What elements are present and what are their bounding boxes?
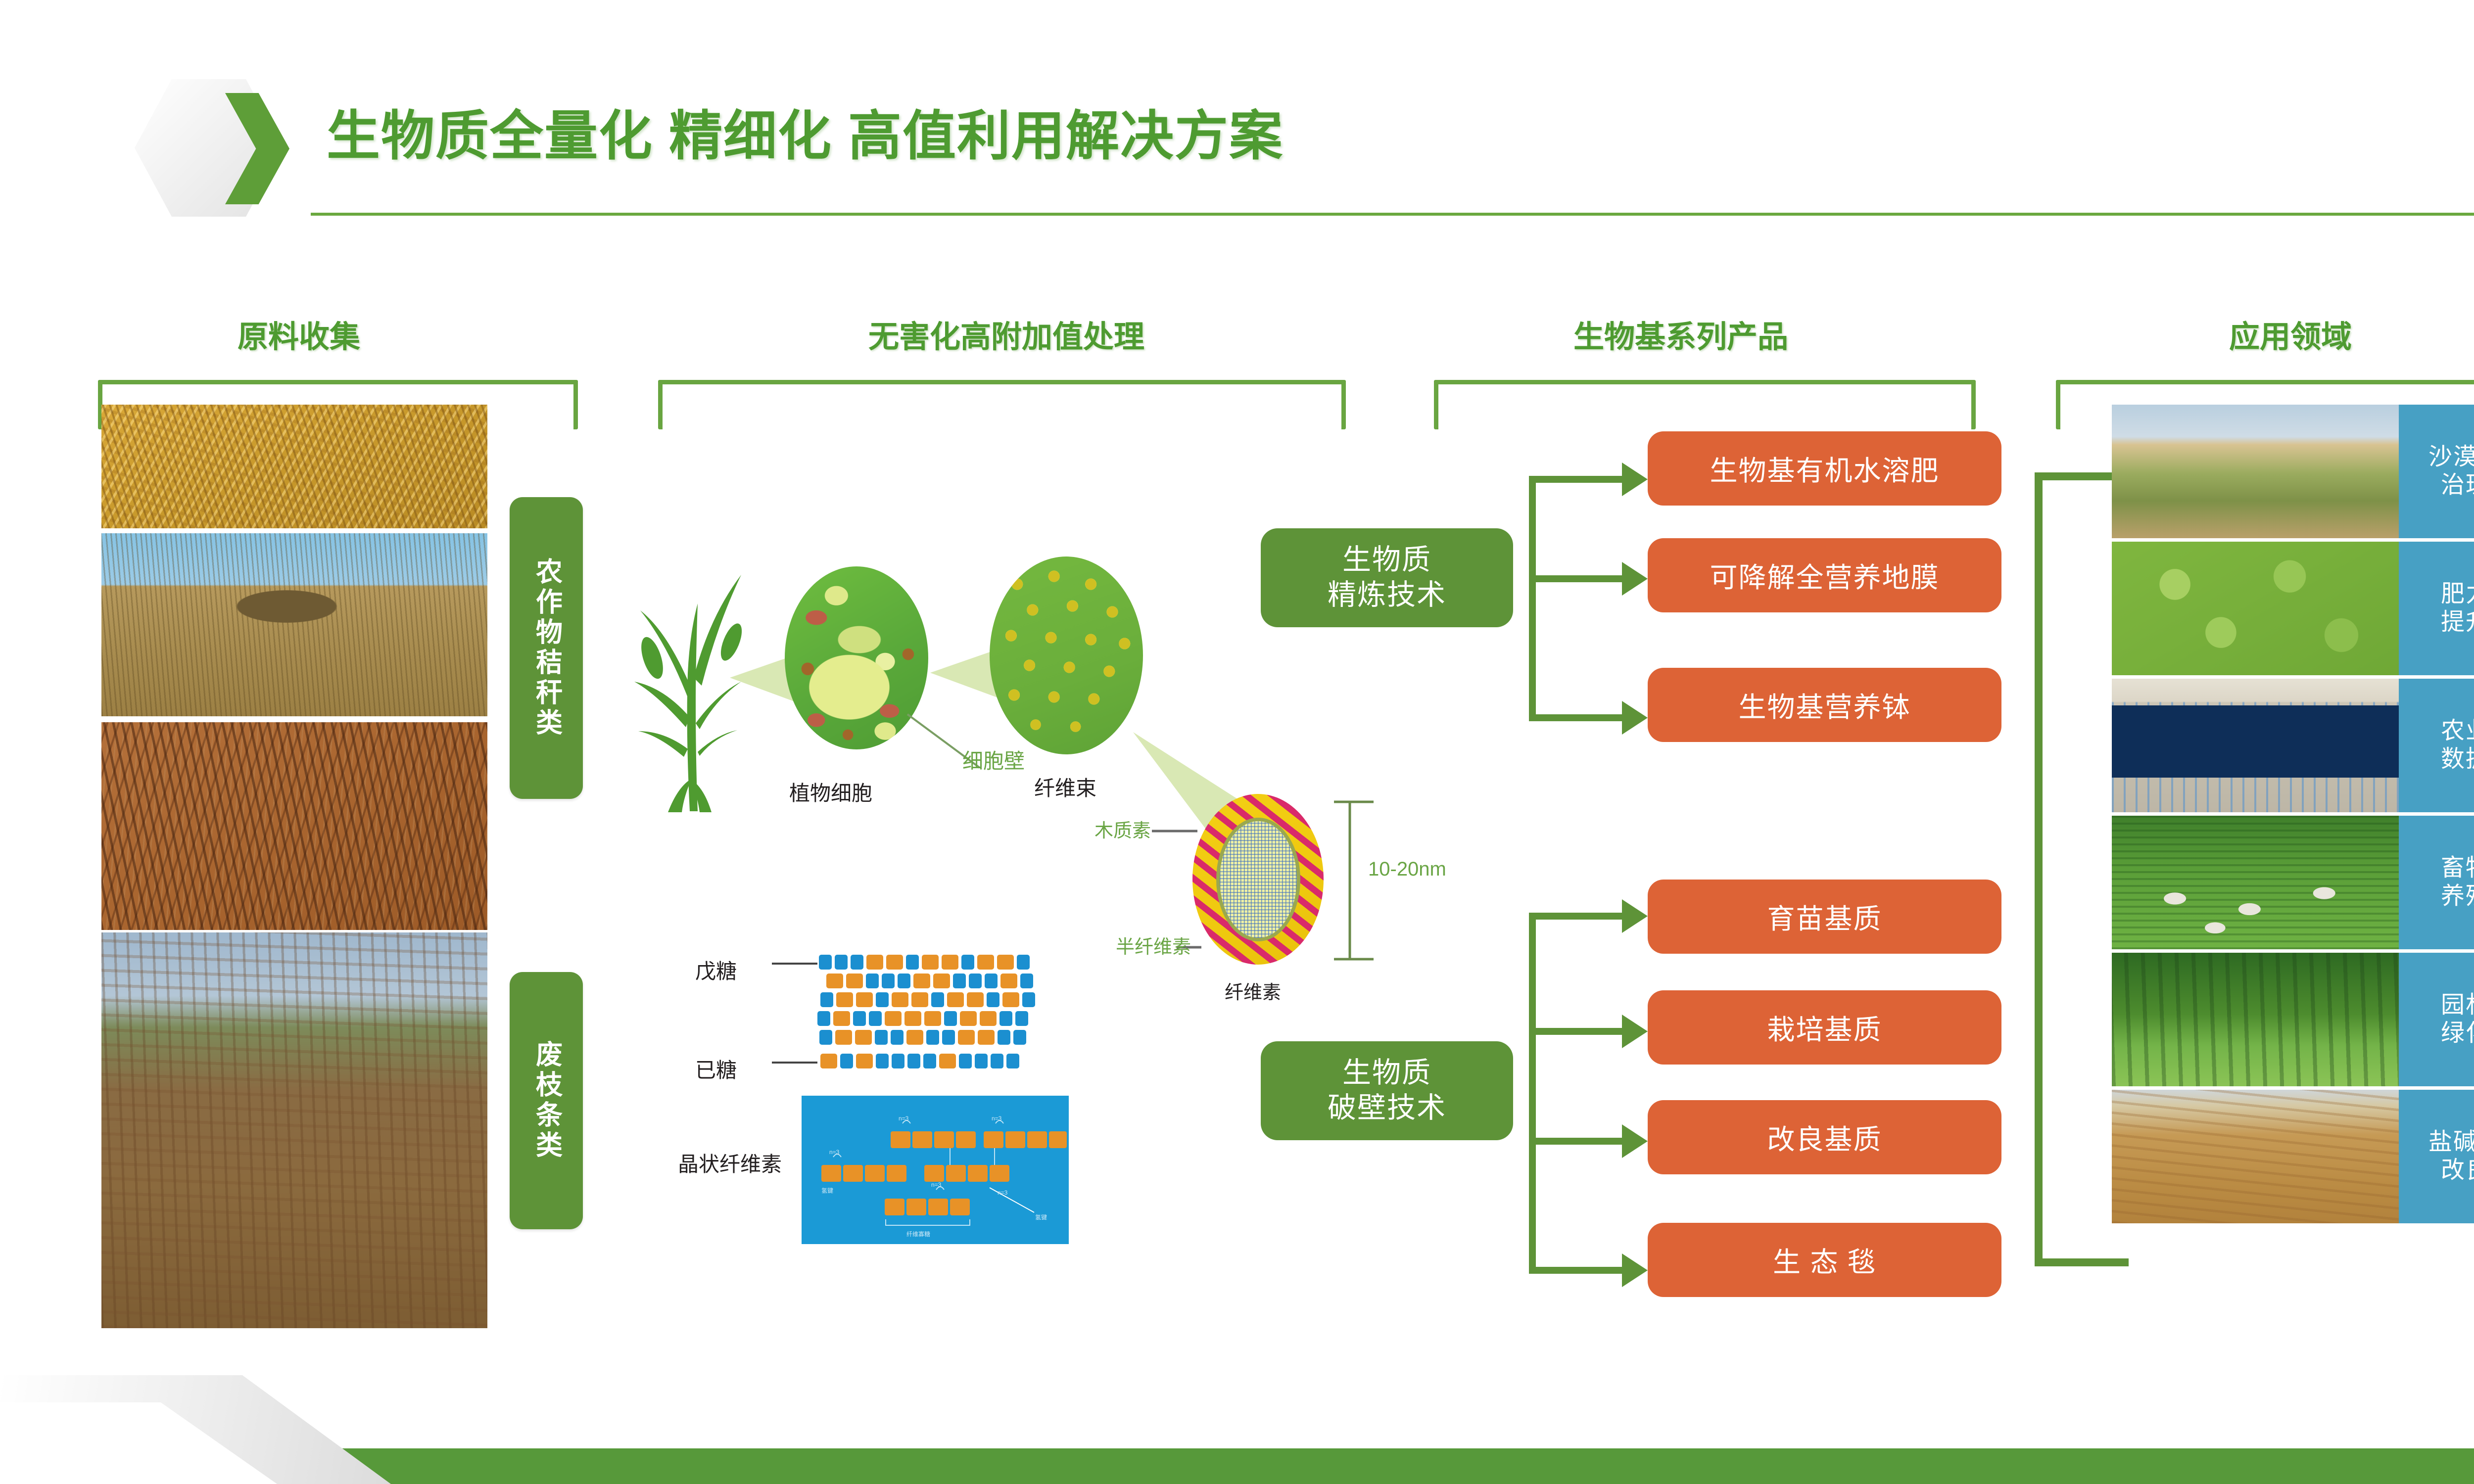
arrow-to-product-4 [1622, 899, 1648, 933]
tech-box-wall-breaking[interactable]: 生物质 破壁技术 [1261, 1041, 1513, 1140]
application-tile-5[interactable]: 园林 绿化 [2399, 953, 2474, 1086]
label-plant-cell: 植物细胞 [789, 777, 872, 807]
label-hexose: 已糖 [695, 1054, 737, 1084]
application-label-line1: 肥力 [2441, 580, 2474, 608]
sugar-polymer-diagram [772, 930, 1069, 1078]
feedstock-category-crop-straw[interactable]: 农作物秸秆类 [510, 497, 583, 799]
svg-text:n=3: n=3 [992, 1115, 1002, 1122]
connector-branch-1a [1529, 476, 1623, 483]
svg-text:纤维寡糖: 纤维寡糖 [906, 1230, 930, 1238]
svg-text:氢键: 氢键 [821, 1187, 833, 1194]
application-label-line2: 治理 [2428, 471, 2474, 500]
connector-trunk-1 [1529, 476, 1536, 721]
application-label-line1: 农业 [2441, 717, 2474, 745]
feedstock-category-label: 废枝条类 [532, 1040, 560, 1161]
section-title-products: 生物基系列产品 [1573, 312, 1788, 356]
connector-branch-2d [1529, 1267, 1623, 1274]
feedstock-category-label: 农作物秸秆类 [532, 557, 560, 739]
saline-land-photo [2112, 1090, 2399, 1223]
grazing-sheep-photo [2112, 816, 2399, 949]
arrow-to-product-2 [1622, 562, 1648, 596]
connector-branch-2c [1529, 1138, 1623, 1145]
crystalline-cellulose-panel: n=3n=3 n=3n=3 n=3 氢键氢键 纤维寡糖 [802, 1096, 1069, 1244]
data-control-room-photo [2112, 679, 2399, 812]
label-cellulose: 纤维素 [1225, 977, 1281, 1004]
application-tile-2[interactable]: 肥力 提升 [2399, 542, 2474, 675]
label-crystalline-cellulose: 晶状纤维素 [678, 1148, 782, 1178]
svg-text:氢键: 氢键 [1035, 1213, 1047, 1221]
connector-branch-1b [1529, 575, 1623, 582]
product-label: 改良基质 [1767, 1117, 1882, 1158]
label-pentose: 戊糖 [695, 955, 737, 985]
straw-bale-field-photo [101, 533, 487, 716]
label-scale-10-20nm: 10-20nm [1368, 858, 1446, 881]
arrow-to-product-3 [1622, 701, 1648, 735]
page-title: 生物质全量化 精细化 高值利用解决方案 [327, 93, 1284, 170]
application-label-line1: 畜牧 [2441, 854, 2474, 882]
label-fiber-bundle: 纤维束 [1034, 772, 1096, 802]
applications-bracket-bottom [2035, 1258, 2129, 1266]
product-label: 育苗基质 [1767, 897, 1882, 937]
application-label-line2: 改良 [2428, 1157, 2474, 1185]
page-header: 生物质全量化 精细化 高值利用解决方案 [0, 0, 2474, 232]
product-label: 可降解全营养地膜 [1710, 556, 1940, 596]
product-label: 栽培基质 [1767, 1008, 1882, 1048]
product-pill-1[interactable]: 生物基有机水溶肥 [1648, 431, 2001, 506]
feedstock-category-waste-branch[interactable]: 废枝条类 [510, 972, 583, 1229]
application-label-line2: 养殖 [2441, 882, 2474, 911]
svg-text:n=3: n=3 [829, 1149, 840, 1156]
application-tile-1[interactable]: 沙漠化 治理 [2399, 405, 2474, 538]
arrow-to-product-7 [1622, 1253, 1648, 1287]
product-pill-3[interactable]: 生物基营养钵 [1648, 668, 2001, 742]
product-pill-5[interactable]: 栽培基质 [1648, 990, 2001, 1065]
section-title-applications: 应用领域 [2229, 312, 2352, 356]
svg-text:n=3: n=3 [899, 1115, 909, 1122]
applications-bracket-stem [2035, 472, 2043, 1266]
connector-branch-2b [1529, 1028, 1623, 1035]
product-pill-4[interactable]: 育苗基质 [1648, 880, 2001, 954]
cellulose-core [1216, 818, 1300, 941]
svg-text:n=3: n=3 [931, 1181, 942, 1188]
arrow-to-product-5 [1622, 1015, 1648, 1048]
connector-trunk-2 [1529, 913, 1536, 1274]
arrow-to-product-6 [1622, 1124, 1648, 1158]
bracket-processing [658, 380, 1346, 429]
application-label-line2: 绿化 [2441, 1020, 2474, 1048]
bracket-products [1434, 380, 1976, 429]
product-label: 生 态 毯 [1773, 1240, 1876, 1280]
section-title-feedstock: 原料收集 [238, 312, 360, 356]
desert-restoration-photo [2112, 405, 2399, 538]
product-pill-7[interactable]: 生 态 毯 [1648, 1223, 2001, 1297]
title-divider [311, 213, 2474, 216]
section-title-processing: 无害化高附加值处理 [868, 312, 1144, 356]
connector-branch-2a [1529, 913, 1623, 920]
label-lignin: 木质素 [1094, 815, 1151, 842]
label-cell-wall: 细胞壁 [962, 744, 1025, 775]
application-tile-6[interactable]: 盐碱地 改良 [2399, 1090, 2474, 1223]
cabbage-field-photo [2112, 542, 2399, 675]
product-label: 生物基有机水溶肥 [1710, 449, 1940, 489]
application-label-line2: 提升 [2441, 608, 2474, 637]
product-label: 生物基营养钵 [1739, 685, 1911, 725]
label-hemicellulose: 半纤维素 [1116, 931, 1191, 959]
application-label-line2: 数据 [2441, 745, 2474, 774]
orchard-pruning-photo [101, 932, 487, 1328]
application-label-line1: 沙漠化 [2428, 443, 2474, 471]
scale-dimension-icon [1331, 799, 1376, 962]
tech-label-line2: 破壁技术 [1328, 1091, 1446, 1126]
tech-label-line2: 精炼技术 [1328, 578, 1446, 613]
product-pill-6[interactable]: 改良基质 [1648, 1100, 2001, 1174]
application-tile-4[interactable]: 畜牧 养殖 [2399, 816, 2474, 949]
tech-label-line1: 生物质 [1328, 1056, 1446, 1091]
application-label-line1: 盐碱地 [2428, 1128, 2474, 1157]
dry-branches-photo [101, 722, 487, 930]
product-pill-2[interactable]: 可降解全营养地膜 [1648, 538, 2001, 612]
application-tile-3[interactable]: 农业 数据 [2399, 679, 2474, 812]
corn-stalk-photo [101, 405, 487, 528]
svg-text:n=3: n=3 [998, 1189, 1008, 1196]
arrow-to-product-1 [1622, 463, 1648, 496]
tech-label-line1: 生物质 [1328, 543, 1446, 578]
tech-box-refining[interactable]: 生物质 精炼技术 [1261, 528, 1513, 627]
connector-branch-1c [1529, 714, 1623, 721]
application-label-line1: 园林 [2441, 991, 2474, 1020]
park-greening-photo [2112, 953, 2399, 1086]
fiber-bundle-illustration [990, 556, 1143, 754]
